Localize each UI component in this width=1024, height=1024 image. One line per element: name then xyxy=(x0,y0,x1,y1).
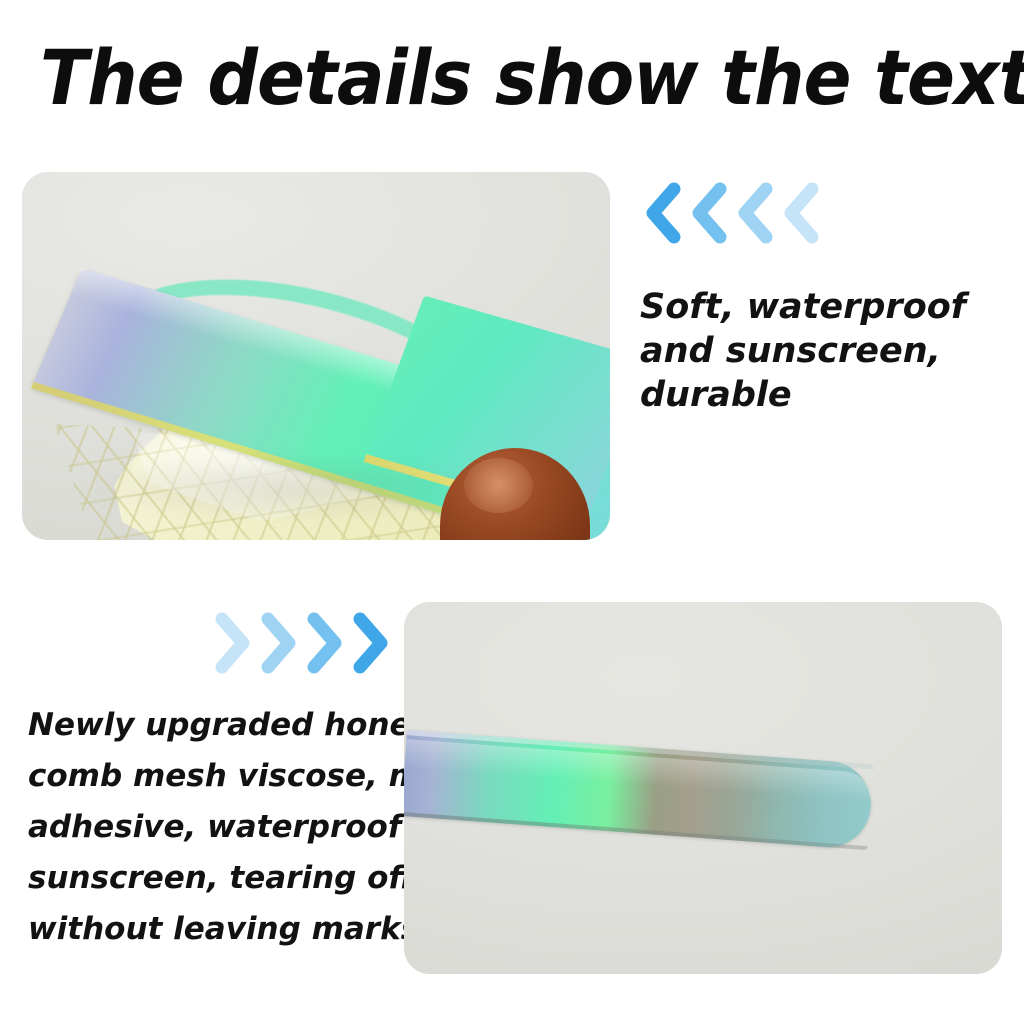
caption-line: comb mesh viscose, more xyxy=(28,751,403,802)
chevron-right-icon xyxy=(306,612,348,674)
caption-line: adhesive, waterproof and xyxy=(28,802,403,853)
caption-line: Soft, waterproof xyxy=(640,285,1010,329)
caption-line: and sunscreen, xyxy=(640,329,1010,373)
chevron-right-icon xyxy=(260,612,302,674)
caption-line: without leaving marks xyxy=(28,904,403,955)
caption-line: Newly upgraded honey- xyxy=(28,700,403,751)
page-title: The details show the texture xyxy=(40,38,924,118)
drop-shadow xyxy=(81,458,493,518)
chevron-right-icon xyxy=(214,612,256,674)
infographic-page: The details show the texture xyxy=(0,0,1024,1024)
chevron-left-icon xyxy=(778,182,820,244)
soft-waterproof-caption: Soft, waterproof and sunscreen, durable xyxy=(640,285,1010,417)
chevrons-pointing-right xyxy=(214,612,394,674)
caption-line: sunscreen, tearing off xyxy=(28,853,403,904)
chevrons-pointing-left xyxy=(640,182,820,244)
chevron-left-icon xyxy=(686,182,728,244)
flat-tape-photo xyxy=(404,602,1002,974)
looped-tape-photo xyxy=(22,172,610,540)
caption-line: durable xyxy=(640,373,1010,417)
finger-highlight xyxy=(464,458,533,513)
chevron-right-icon xyxy=(352,612,394,674)
chevron-left-icon xyxy=(732,182,774,244)
tape-loop-illustration xyxy=(22,172,610,540)
chevron-left-icon xyxy=(640,182,682,244)
honeycomb-mesh-caption: Newly upgraded honey- comb mesh viscose,… xyxy=(28,700,403,955)
